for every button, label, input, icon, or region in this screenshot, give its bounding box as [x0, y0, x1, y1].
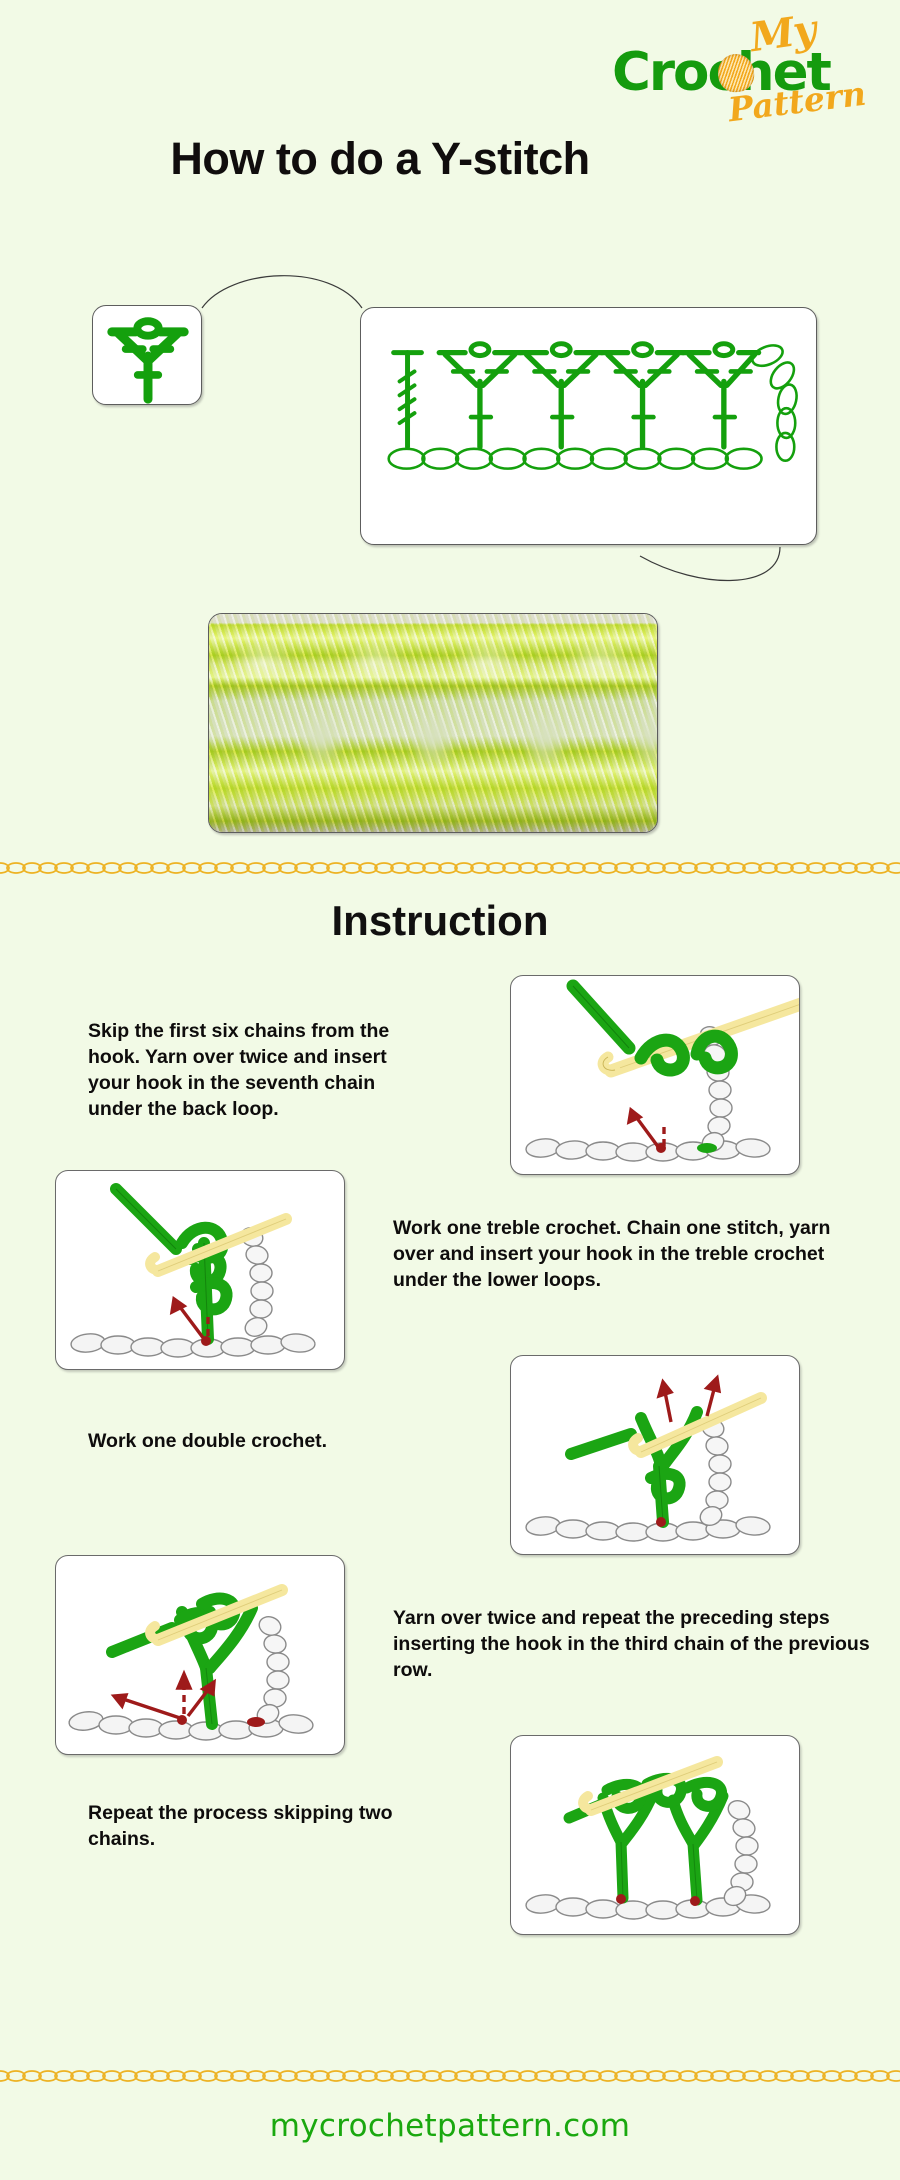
step-3-diagram	[511, 1356, 800, 1555]
brand-logo: My Crochet Pattern	[602, 8, 882, 126]
foundation-chain-row	[389, 449, 762, 469]
chain-divider-top	[0, 855, 900, 881]
step-2-diagram	[56, 1171, 345, 1370]
step-2-text: Work one treble crochet. Chain one stitc…	[393, 1215, 863, 1293]
chain-divider-bottom	[0, 2063, 900, 2089]
step-3-illustration	[510, 1355, 800, 1555]
step-5-diagram	[511, 1736, 800, 1935]
step-3-text: Work one double crochet.	[88, 1428, 418, 1454]
step-5-text: Repeat the process skipping two chains.	[88, 1800, 418, 1852]
step-5-illustration	[510, 1735, 800, 1935]
stitch-diagram-card	[360, 307, 817, 545]
step-4-diagram	[56, 1556, 345, 1755]
step-1-illustration	[510, 975, 800, 1175]
chain-base	[525, 1137, 771, 1161]
page-title: How to do a Y-stitch	[0, 133, 760, 185]
stitch-diagram	[361, 308, 816, 544]
footer-website-link[interactable]: mycrochetpattern.com	[0, 2108, 900, 2144]
instruction-heading: Instruction	[0, 897, 880, 945]
step-2-illustration	[55, 1170, 345, 1370]
step-1-diagram	[511, 976, 800, 1175]
step-4-illustration	[55, 1555, 345, 1755]
swatch-photo-card	[208, 613, 658, 833]
step-4-text: Yarn over twice and repeat the preceding…	[393, 1605, 873, 1683]
right-turning-chain	[749, 341, 799, 460]
yarn-swatch-image	[209, 614, 657, 832]
symbol-legend-card	[92, 305, 202, 405]
step-1-text: Skip the first six chains from the hook.…	[88, 1018, 418, 1123]
y-stitch-symbol-icon	[93, 306, 203, 406]
